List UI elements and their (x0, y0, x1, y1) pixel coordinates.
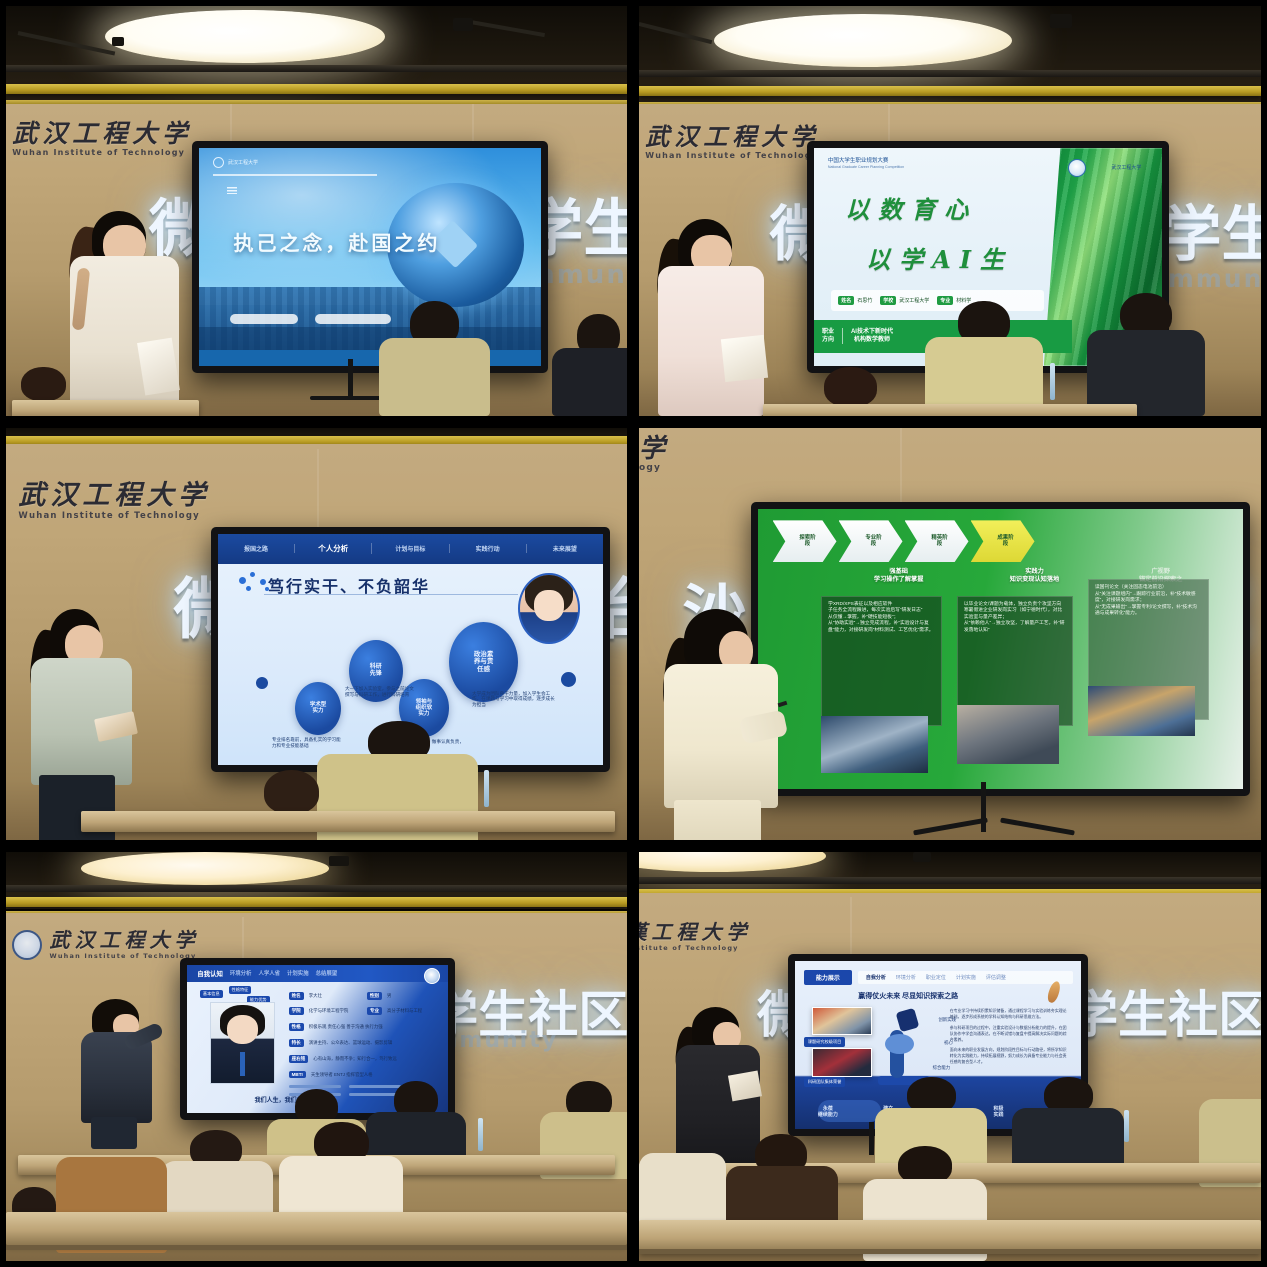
lecture-room-scene-6: 漢工程大学 Institute of Technology 微 学生社区 能力展… (639, 852, 1261, 1261)
slide-2-title-line2: 以学AI生 (866, 240, 1013, 275)
slide-3-nav[interactable]: 报国之路 个人分析 计划与目标 实践行动 未来展望 (218, 534, 603, 564)
microscope-head (895, 1008, 919, 1032)
projector-mount (112, 37, 124, 46)
tag-name-label: 姓名 (838, 296, 854, 305)
slide-1-title: 执己之念，赴国之约 (233, 227, 440, 256)
stage-arrow-0: 探索阶 段 (773, 520, 837, 562)
school-crest-icon (1068, 159, 1086, 177)
audience-member (1087, 293, 1205, 416)
presenter-avatar (518, 573, 580, 644)
slide-header-logo: 武汉工程大学 (213, 157, 258, 168)
screen-stand (981, 782, 986, 831)
field-value: 心有山海，静而不争；知行合一，笃行致远 (313, 1056, 396, 1062)
column-0-header: 强基础 学习操作了解掌握 (836, 568, 962, 585)
ceiling-rail (639, 877, 1261, 884)
career-direction-label: 职业 方向 (814, 328, 843, 344)
torso (552, 348, 627, 416)
university-name-en: Wuhan Institute of Technology (49, 953, 199, 960)
lecture-room-scene-2: 武汉工程大学 Wuhan Institute of Technology 微 学… (639, 6, 1261, 416)
university-wall-logo-1: 武汉工程大学 Wuhan Institute of Technology (12, 121, 192, 157)
accent-dot (561, 672, 576, 687)
tag-name: 姓名 石思竹 (838, 296, 872, 305)
field-label: MBTI (289, 1071, 306, 1078)
note-political: 大学成为团队骨干力量，加入学生会工作，在课题与学习中取得成绩，逐步成长为担当 (472, 691, 557, 708)
lecture-room-scene-4: 学 ogy 沙 区 m 探索阶 段 专业阶 段 精英阶 段 成果阶 段 (639, 428, 1261, 840)
desk (12, 400, 198, 416)
field-row-personality: 性格 积极乐观 责任心强 善于沟通 执行力强 (289, 1023, 383, 1031)
note-research: 大一下加入实验室，参与之前论文撰写与科研工作，进行科研培育 (345, 686, 414, 697)
field-value: 积极乐观 责任心强 善于沟通 执行力强 (309, 1024, 383, 1030)
activity-photo-bottom (812, 1048, 871, 1077)
trousers (91, 1117, 137, 1149)
nav-item-4[interactable]: 评估调整 (986, 974, 1006, 981)
field-label: 专业 (367, 1007, 382, 1015)
body-paragraph-1: 参与科研项目的过程中，注重实验设计与数据分析能力的提升，在团队协作中学会沟通表达… (950, 1025, 1070, 1043)
activity-caption-top: 课题研究校级项目 (804, 1037, 846, 1047)
collage-panel-2: 武汉工程大学 Wuhan Institute of Technology 微 学… (633, 0, 1267, 422)
university-name-cn: 武汉工程大学 (49, 930, 199, 950)
field-row-name: 姓名 李大壮 (289, 992, 322, 1000)
nav-item-0[interactable]: 报国之路 (218, 544, 295, 553)
projector-housing (1050, 14, 1072, 28)
panel-6-photo: 漢工程大学 Institute of Technology 微 学生社区 能力展… (639, 852, 1261, 1261)
footer-item-0: 永葆 继续能力 (818, 1106, 838, 1119)
slide-5-nav[interactable]: 自我认知 环境分析 人学人省 计划实施 总结展望 (187, 965, 448, 981)
desk (81, 811, 615, 832)
id-photo (210, 1002, 275, 1084)
water-bottle (484, 770, 489, 807)
projector-housing (913, 852, 931, 862)
school-crest-label: 武汉工程大学 (1111, 164, 1141, 171)
competition-name-en: National Graduate Career Planning Compet… (828, 165, 904, 170)
microscope-icon (873, 1008, 936, 1085)
university-wall-logo-6-partial: 漢工程大学 Institute of Technology (639, 922, 752, 952)
header-divider (213, 174, 377, 176)
field-label: 性别 (367, 992, 382, 1000)
lecture-room-scene-3: 武汉工程大学 Wuhan Institute of Technology 微 台… (6, 428, 627, 840)
university-wall-logo-2: 武汉工程大学 Wuhan Institute of Technology (645, 125, 819, 160)
nav-item-2[interactable]: 人学人省 (258, 969, 280, 977)
slide-4-background: 探索阶 段 专业阶 段 精英阶 段 成果阶 段 强基础 学习操作了解掌握 实践力 (758, 509, 1243, 789)
held-notes (728, 1070, 762, 1101)
ceiling-light (105, 10, 384, 63)
wall-headline-right: 学生社区 (1068, 975, 1261, 1047)
display-screen-1[interactable]: 武汉工程大学 执己之念，赴国之约 (192, 141, 548, 372)
field-value: 天生领导者 ENTJ 指挥官型人格 (311, 1072, 373, 1078)
slide-6-title: 赢得仗火未来 尽显知识探索之路 (858, 991, 958, 1001)
held-papers (720, 335, 767, 382)
field-label: 学院 (289, 1007, 304, 1015)
head (21, 367, 66, 401)
pointer-pen (778, 701, 788, 708)
column-1-subtitle: 知识变现认知落地 (971, 576, 1097, 584)
field-value: 男 (387, 993, 391, 999)
field-label: 姓名 (289, 992, 304, 1000)
nav-item-4[interactable]: 未来展望 (527, 544, 603, 553)
head (264, 770, 320, 814)
yellow-pipe (6, 897, 627, 907)
tag-name-value: 石思竹 (857, 297, 872, 304)
slide-4: 探索阶 段 专业阶 段 精英阶 段 成果阶 段 强基础 学习操作了解掌握 实践力 (758, 509, 1243, 789)
university-wall-logo-3: 武汉工程大学 Wuhan Institute of Technology (18, 482, 210, 521)
nav-item-1[interactable]: 环境分析 (230, 969, 252, 977)
column-1-photo (957, 705, 1059, 764)
yellow-pipe (6, 84, 627, 94)
field-row-mbti: MBTI 天生领导者 ENTJ 指挥官型人格 (289, 1071, 373, 1078)
field-label: 座右铭 (289, 1055, 309, 1063)
desk-edge (6, 1245, 627, 1250)
slide-6-nav[interactable]: 能力展示 自我分析 环境分析 职业定位 计划实施 评估调整 (804, 968, 1073, 986)
footer-item-3: 积极 实践 (994, 1106, 1004, 1119)
tab-ability-showcase[interactable]: 能力展示 (804, 970, 852, 985)
microscope-lens (885, 1034, 914, 1054)
ceiling-rail (639, 70, 1261, 77)
ceiling-rail (6, 885, 627, 892)
collage-panel-3: 武汉工程大学 Wuhan Institute of Technology 微 台… (0, 422, 633, 846)
university-name-en: Wuhan Institute of Technology (18, 512, 210, 521)
field-value: 演讲主持、公众表达、篮球运动、摄影剪辑 (309, 1040, 392, 1046)
water-bottle (1124, 1110, 1129, 1143)
university-crest-icon (12, 930, 42, 960)
university-name-en-partial: ogy (639, 464, 670, 473)
nav-item-2[interactable]: 计划与目标 (372, 544, 449, 553)
nav-item-3[interactable]: 计划实施 (956, 974, 976, 981)
presenter-pill (230, 314, 298, 324)
field-value: 李大壮 (309, 993, 322, 999)
activity-photo-top (812, 1007, 871, 1036)
stage-arrow-1: 专业阶 段 (839, 520, 903, 562)
slide-header-text: 武汉工程大学 (228, 159, 258, 166)
water-bottle (478, 1118, 483, 1151)
field-row-gender: 性别 男 (367, 992, 392, 1000)
school-crest-icon (424, 968, 440, 984)
stage-arrow-2: 精英阶 段 (905, 520, 969, 562)
presenter-2 (658, 219, 770, 416)
torso (379, 338, 491, 416)
nav-item-1[interactable]: 环境分析 (896, 974, 916, 981)
nav-item-0-active[interactable]: 自我认知 (197, 969, 223, 978)
university-name-cn-partial: 漢工程大学 (639, 922, 752, 942)
panel-4-photo: 学 ogy 沙 区 m 探索阶 段 专业阶 段 精英阶 段 成果阶 段 (639, 428, 1261, 840)
desk (763, 404, 1136, 416)
tag-school: 学校 武汉工程大学 (880, 296, 929, 305)
activity-caption-bottom: 科研团队集体荣誉 (804, 1077, 846, 1087)
display-screen-4[interactable]: 探索阶 段 专业阶 段 精英阶 段 成果阶 段 强基础 学习操作了解掌握 实践力 (751, 502, 1250, 796)
trousers (674, 800, 761, 840)
presenter-5 (81, 999, 156, 1146)
column-0-body: 学XRD/XPS表征以及相应软件 子任务全流程跟进，每次实验后写“研发日志” 从… (821, 596, 942, 726)
photo-tag-0: 基本信息 (200, 990, 223, 998)
audience-member (379, 301, 491, 416)
panel-3-photo: 武汉工程大学 Wuhan Institute of Technology 微 台… (6, 428, 627, 840)
audience-member (925, 301, 1043, 416)
university-name-cn: 武汉工程大学 (645, 125, 819, 149)
university-name-cn: 武汉工程大学 (18, 482, 210, 509)
field-row-motto: 座右铭 心有山海，静而不争；知行合一，笃行致远 (289, 1055, 397, 1063)
university-name-cn: 武汉工程大学 (12, 121, 192, 146)
nav-item-2[interactable]: 职业定位 (926, 974, 946, 981)
ceiling-rail (6, 65, 627, 72)
ceiling-light (81, 852, 329, 885)
yellow-pipe (639, 86, 1261, 96)
projector-housing (453, 18, 473, 31)
nav-item-0-active[interactable]: 自我分析 (866, 974, 886, 981)
screen-stand (348, 359, 353, 400)
university-wall-logo-4-partial: 学 ogy (639, 436, 670, 473)
progress-bar-1 (289, 1085, 341, 1088)
career-direction-line2: 机构数学教师 (851, 336, 893, 344)
field-row-talent: 特长 演讲主持、公众表达、篮球运动、摄影剪辑 (289, 1039, 393, 1047)
head (824, 367, 876, 407)
projector-housing (329, 856, 349, 866)
column-1-header: 实践力 知识变现认知落地 (971, 568, 1097, 585)
nav-item-3[interactable]: 实践行动 (450, 544, 527, 553)
body-paragraph-2: 面向未来的职业发展方向，规划阶段性目标与行动路径，将所学知识转化为实践能力，持续… (950, 1047, 1070, 1065)
crest-icon (213, 157, 224, 168)
title-underline (264, 594, 518, 596)
career-direction-line1: AI技术下新时代 (851, 328, 893, 336)
accent-dot (256, 677, 268, 689)
column-0-photo (821, 716, 928, 772)
lecture-room-scene-5: 武汉工程大学 Wuhan Institute of Technology 微 学… (6, 852, 627, 1261)
photo-collage: 武汉工程大学 Wuhan Institute of Technology 微 学… (0, 0, 1267, 1267)
panel-5-photo: 武汉工程大学 Wuhan Institute of Technology 微 学… (6, 852, 627, 1261)
university-name-en-partial: Institute of Technology (639, 945, 752, 952)
nav-tab-list[interactable]: 自我分析 环境分析 职业定位 计划实施 评估调整 (858, 971, 1073, 984)
panel-2-photo: 武汉工程大学 Wuhan Institute of Technology 微 学… (639, 6, 1261, 416)
career-direction-value: AI技术下新时代 机构数学教师 (843, 328, 901, 344)
lecture-room-scene-1: 武汉工程大学 Wuhan Institute of Technology 微 学… (6, 6, 627, 416)
tag-school-label: 学校 (880, 296, 896, 305)
photo-tag-1: 性格特征 (229, 986, 252, 994)
nav-item-3[interactable]: 计划实施 (287, 969, 309, 977)
audience-member (552, 314, 627, 417)
column-0-subtitle: 学习操作了解掌握 (836, 576, 962, 584)
photo-face (227, 1015, 258, 1044)
nav-item-1-active[interactable]: 个人分析 (295, 543, 372, 554)
nav-item-4[interactable]: 总结展望 (316, 969, 338, 977)
wall-headline-en: mmunity (1168, 264, 1261, 293)
field-label: 性格 (289, 1023, 304, 1031)
slide-2-title-line1: 以数育心 (845, 190, 977, 225)
slide-6-body-text: 在专业学习中持续积累知识储备，通过课程学习与实验训练夯实理论基础，逐步形成系统的… (950, 1008, 1070, 1070)
panel-1-photo: 武汉工程大学 Wuhan Institute of Technology 微 学… (6, 6, 627, 416)
avatar-face (534, 590, 564, 621)
node-label-2: 综合能力 (933, 1065, 951, 1071)
column-2-photo (1088, 686, 1195, 736)
university-wall-logo-5: 武汉工程大学 Wuhan Institute of Technology (49, 930, 199, 960)
field-value: 高分子材料与工程 (387, 1008, 422, 1014)
university-name-en: Wuhan Institute of Technology (645, 152, 819, 160)
menu-icon[interactable] (227, 187, 237, 194)
photo-tie (240, 1052, 245, 1076)
presenter-4 (664, 609, 788, 840)
university-name-cn-partial: 学 (639, 436, 670, 462)
field-label: 特长 (289, 1039, 304, 1047)
stage-arrow-row: 探索阶 段 专业阶 段 精英阶 段 成果阶 段 (773, 520, 1035, 562)
field-row-college: 学院 化学与环境工程学院 (289, 1007, 349, 1015)
water-bottle (1050, 363, 1055, 400)
collage-panel-5: 武汉工程大学 Wuhan Institute of Technology 微 学… (0, 846, 633, 1267)
presenter-1 (68, 211, 186, 416)
field-row-major: 专业 高分子材料与工程 (367, 1007, 422, 1015)
presenter-3 (31, 609, 137, 840)
wall-headline-right: 学生社区 (1161, 186, 1261, 273)
collage-panel-1: 武汉工程大学 Wuhan Institute of Technology 微 学… (0, 0, 633, 422)
field-value: 化学与环境工程学院 (309, 1008, 349, 1014)
desk-row-front (6, 1212, 627, 1245)
desk-edge (639, 1249, 1261, 1254)
collage-panel-4: 学 ogy 沙 区 m 探索阶 段 专业阶 段 精英阶 段 成果阶 段 (633, 422, 1267, 846)
stage-arrow-3-highlight: 成果阶 段 (971, 520, 1035, 562)
competition-name-cn: 中国大学生职业规划大赛 (828, 157, 904, 165)
competition-header: 中国大学生职业规划大赛 National Graduate Career Pla… (828, 157, 904, 171)
collage-panel-6: 漢工程大学 Institute of Technology 微 学生社区 能力展… (633, 846, 1267, 1267)
body-paragraph-0: 在专业学习中持续积累知识储备，通过课程学习与实验训练夯实理论基础，逐步形成系统的… (950, 1008, 1070, 1020)
university-name-en: Wuhan Institute of Technology (12, 149, 192, 157)
